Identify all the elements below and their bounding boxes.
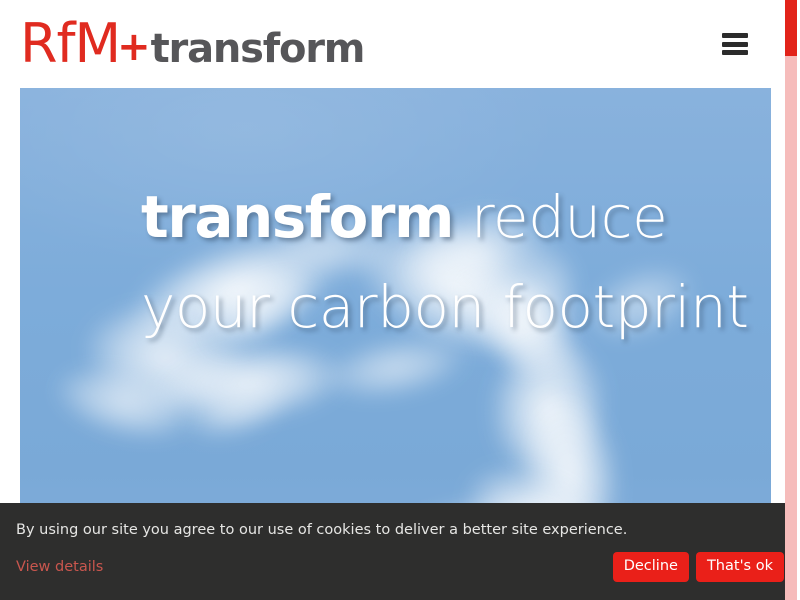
cookie-buttons-group: Decline That's ok: [613, 552, 784, 582]
page-root: RfM+transform transform reduce your carb…: [0, 0, 800, 600]
decline-cookies-button[interactable]: Decline: [613, 552, 689, 582]
vertical-scrollbar-thumb[interactable]: [785, 0, 797, 56]
hamburger-menu-icon[interactable]: [722, 33, 748, 55]
view-details-link[interactable]: View details: [16, 559, 103, 575]
cookie-consent-actions: View details Decline That's ok: [16, 552, 784, 582]
hero-headline: transform reduce your carbon footprint: [141, 172, 771, 352]
brand-logo[interactable]: RfM+transform: [20, 17, 364, 71]
brand-logo-plus: +: [117, 27, 151, 67]
brand-logo-rfm: RfM: [20, 17, 120, 71]
hamburger-bar-middle: [722, 42, 748, 47]
accept-cookies-button[interactable]: That's ok: [696, 552, 784, 582]
brand-logo-transform: transform: [151, 29, 365, 69]
hamburger-bar-top: [722, 33, 748, 38]
cookie-consent-message: By using our site you agree to our use o…: [16, 521, 769, 539]
vertical-scrollbar-track[interactable]: [785, 0, 797, 600]
hero-headline-emphasis: transform: [141, 183, 453, 251]
site-header: RfM+transform: [0, 0, 785, 88]
hamburger-bar-bottom: [722, 50, 748, 55]
